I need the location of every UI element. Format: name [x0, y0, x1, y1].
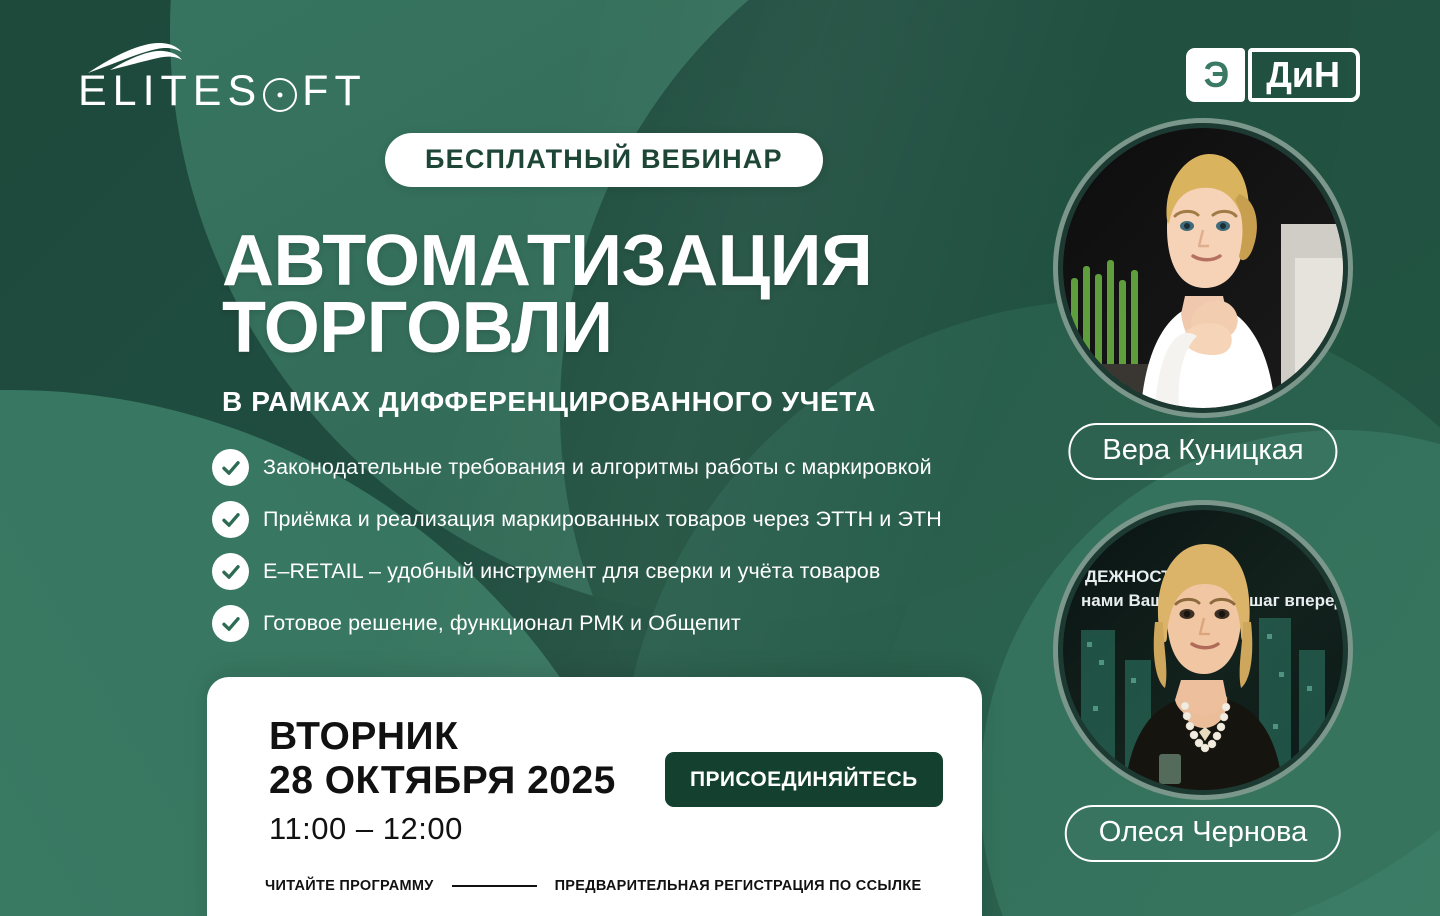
- list-item: E–RETAIL – удобный инструмент для сверки…: [212, 550, 942, 593]
- page-title: АВТОМАТИЗАЦИЯ ТОРГОВЛИ: [222, 228, 872, 362]
- speaker-photo-olesya: ДЕЖНОСТЬ И нами Ваш бизн шаг впереди: [1063, 510, 1343, 790]
- speaker-name-badge: Олеся Чернова: [1065, 805, 1341, 862]
- card-footer: ЧИТАЙТЕ ПРОГРАММУ ПРЕДВАРИТЕЛЬНАЯ РЕГИСТ…: [265, 878, 921, 894]
- elitesoft-wordmark: ELITESFT: [78, 70, 367, 113]
- registration-link[interactable]: ПРЕДВАРИТЕЛЬНАЯ РЕГИСТРАЦИЯ ПО ССЫЛКЕ: [555, 878, 922, 894]
- free-webinar-badge: БЕСПЛАТНЫЙ ВЕБИНАР: [385, 133, 823, 187]
- avatar-image: ДЕЖНОСТЬ И нами Ваш бизн шаг впереди: [1063, 510, 1343, 790]
- speaker-card-2: ДЕЖНОСТЬ И нами Ваш бизн шаг впереди: [1053, 500, 1353, 800]
- page-subtitle: В РАМКАХ ДИФФЕРЕНЦИРОВАННОГО УЧЕТА: [222, 388, 876, 416]
- elitesoft-o-icon: [263, 78, 297, 112]
- list-item-label: Готовое решение, функционал РМК и Общепи…: [263, 611, 741, 636]
- speaker-name-badge: Вера Куницкая: [1068, 423, 1337, 480]
- avatar: [1053, 118, 1353, 418]
- speaker-photo-vera: [1063, 128, 1343, 408]
- feature-list: Законодательные требования и алгоритмы р…: [212, 446, 942, 645]
- elitesoft-text-part1: ELITES: [78, 70, 262, 113]
- event-time: 11:00 – 12:00: [269, 813, 463, 844]
- event-date: 28 ОКТЯБРЯ 2025: [269, 761, 616, 800]
- webinar-banner: ELITESFT Э ДиН БЕСПЛАТНЫЙ ВЕБИНАР АВТОМА…: [0, 0, 1440, 916]
- edin-logo-din: ДиН: [1248, 48, 1360, 102]
- list-item-label: Приёмка и реализация маркированных товар…: [263, 507, 942, 532]
- event-weekday: ВТОРНИК: [269, 717, 458, 756]
- join-button[interactable]: ПРИСОЕДИНЯЙТЕСЬ: [665, 752, 943, 807]
- avatar-image: [1063, 128, 1343, 408]
- read-program-link[interactable]: ЧИТАЙТЕ ПРОГРАММУ: [265, 878, 434, 894]
- footer-divider: [452, 885, 537, 887]
- edin-logo: Э ДиН: [1186, 48, 1360, 102]
- check-circle-icon: [212, 605, 249, 642]
- check-circle-icon: [212, 501, 249, 538]
- edin-logo-e: Э: [1186, 48, 1246, 102]
- speaker-card-1: Вера Куницкая: [1053, 118, 1353, 418]
- list-item-label: Законодательные требования и алгоритмы р…: [263, 455, 932, 480]
- elitesoft-logo: ELITESFT: [78, 40, 367, 113]
- list-item: Приёмка и реализация маркированных товар…: [212, 498, 942, 541]
- check-circle-icon: [212, 449, 249, 486]
- check-circle-icon: [212, 553, 249, 590]
- elitesoft-text-part2: FT: [302, 70, 367, 113]
- avatar: ДЕЖНОСТЬ И нами Ваш бизн шаг впереди: [1053, 500, 1353, 800]
- list-item-label: E–RETAIL – удобный инструмент для сверки…: [263, 559, 880, 584]
- event-details-card: ВТОРНИК 28 ОКТЯБРЯ 2025 11:00 – 12:00 ПР…: [207, 677, 982, 916]
- list-item: Готовое решение, функционал РМК и Общепи…: [212, 602, 942, 645]
- list-item: Законодательные требования и алгоритмы р…: [212, 446, 942, 489]
- svg-text:шаг впереди: шаг впереди: [1249, 591, 1343, 610]
